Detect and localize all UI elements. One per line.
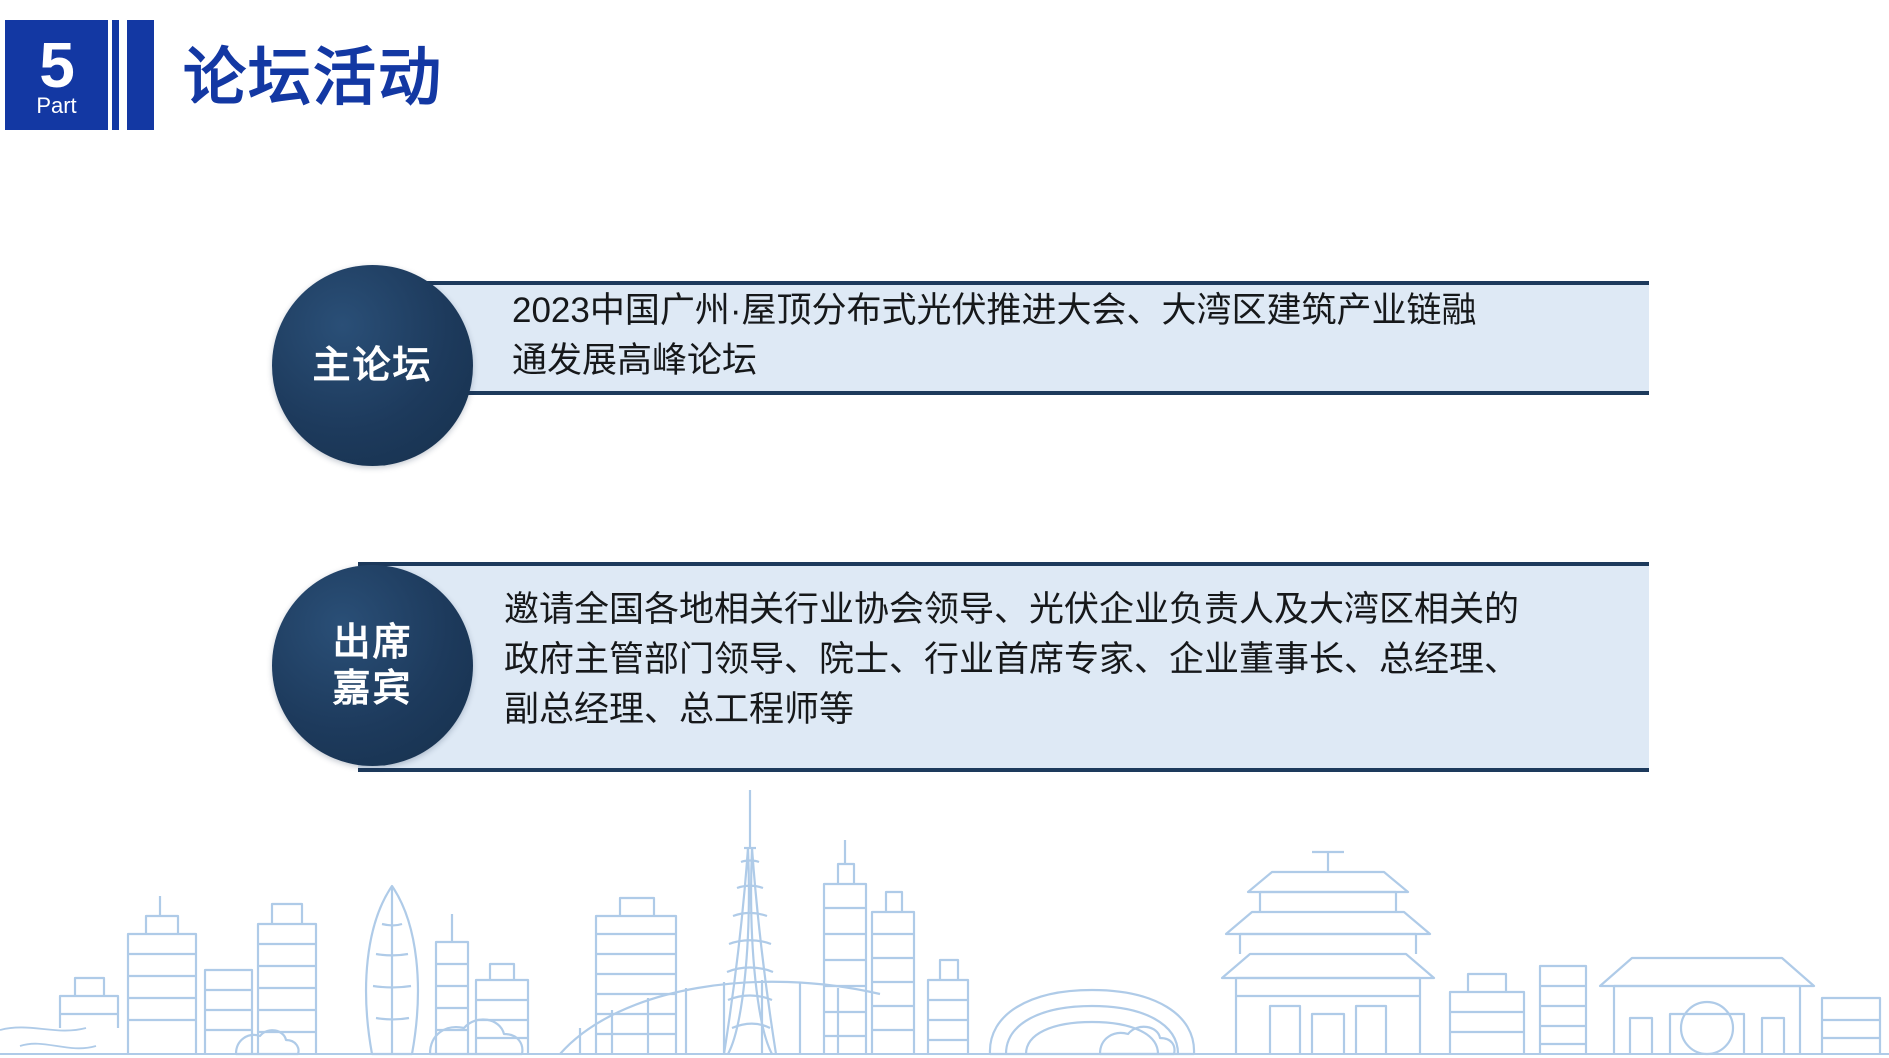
page-title: 论坛活动	[183, 27, 443, 118]
skyline-decoration-icon	[0, 728, 1889, 1058]
row-label-circle: 出席 嘉宾	[272, 565, 473, 766]
header-accent-bar-thick	[127, 20, 154, 130]
row-label-circle: 主论坛	[272, 265, 473, 466]
page-header: 5 Part 论坛活动	[0, 0, 1889, 150]
content-box-text: 2023中国广州·屋顶分布式光伏推进大会、大湾区建筑产业链融 通发展高峰论坛	[512, 286, 1642, 386]
part-number: 5	[39, 33, 74, 97]
header-accent-bar-thin	[112, 20, 119, 130]
content-box-text: 邀请全国各地相关行业协会领导、光伏企业负责人及大湾区相关的 政府主管部门领导、院…	[504, 585, 1644, 735]
part-badge: 5 Part	[5, 20, 108, 130]
part-label: Part	[36, 95, 76, 117]
